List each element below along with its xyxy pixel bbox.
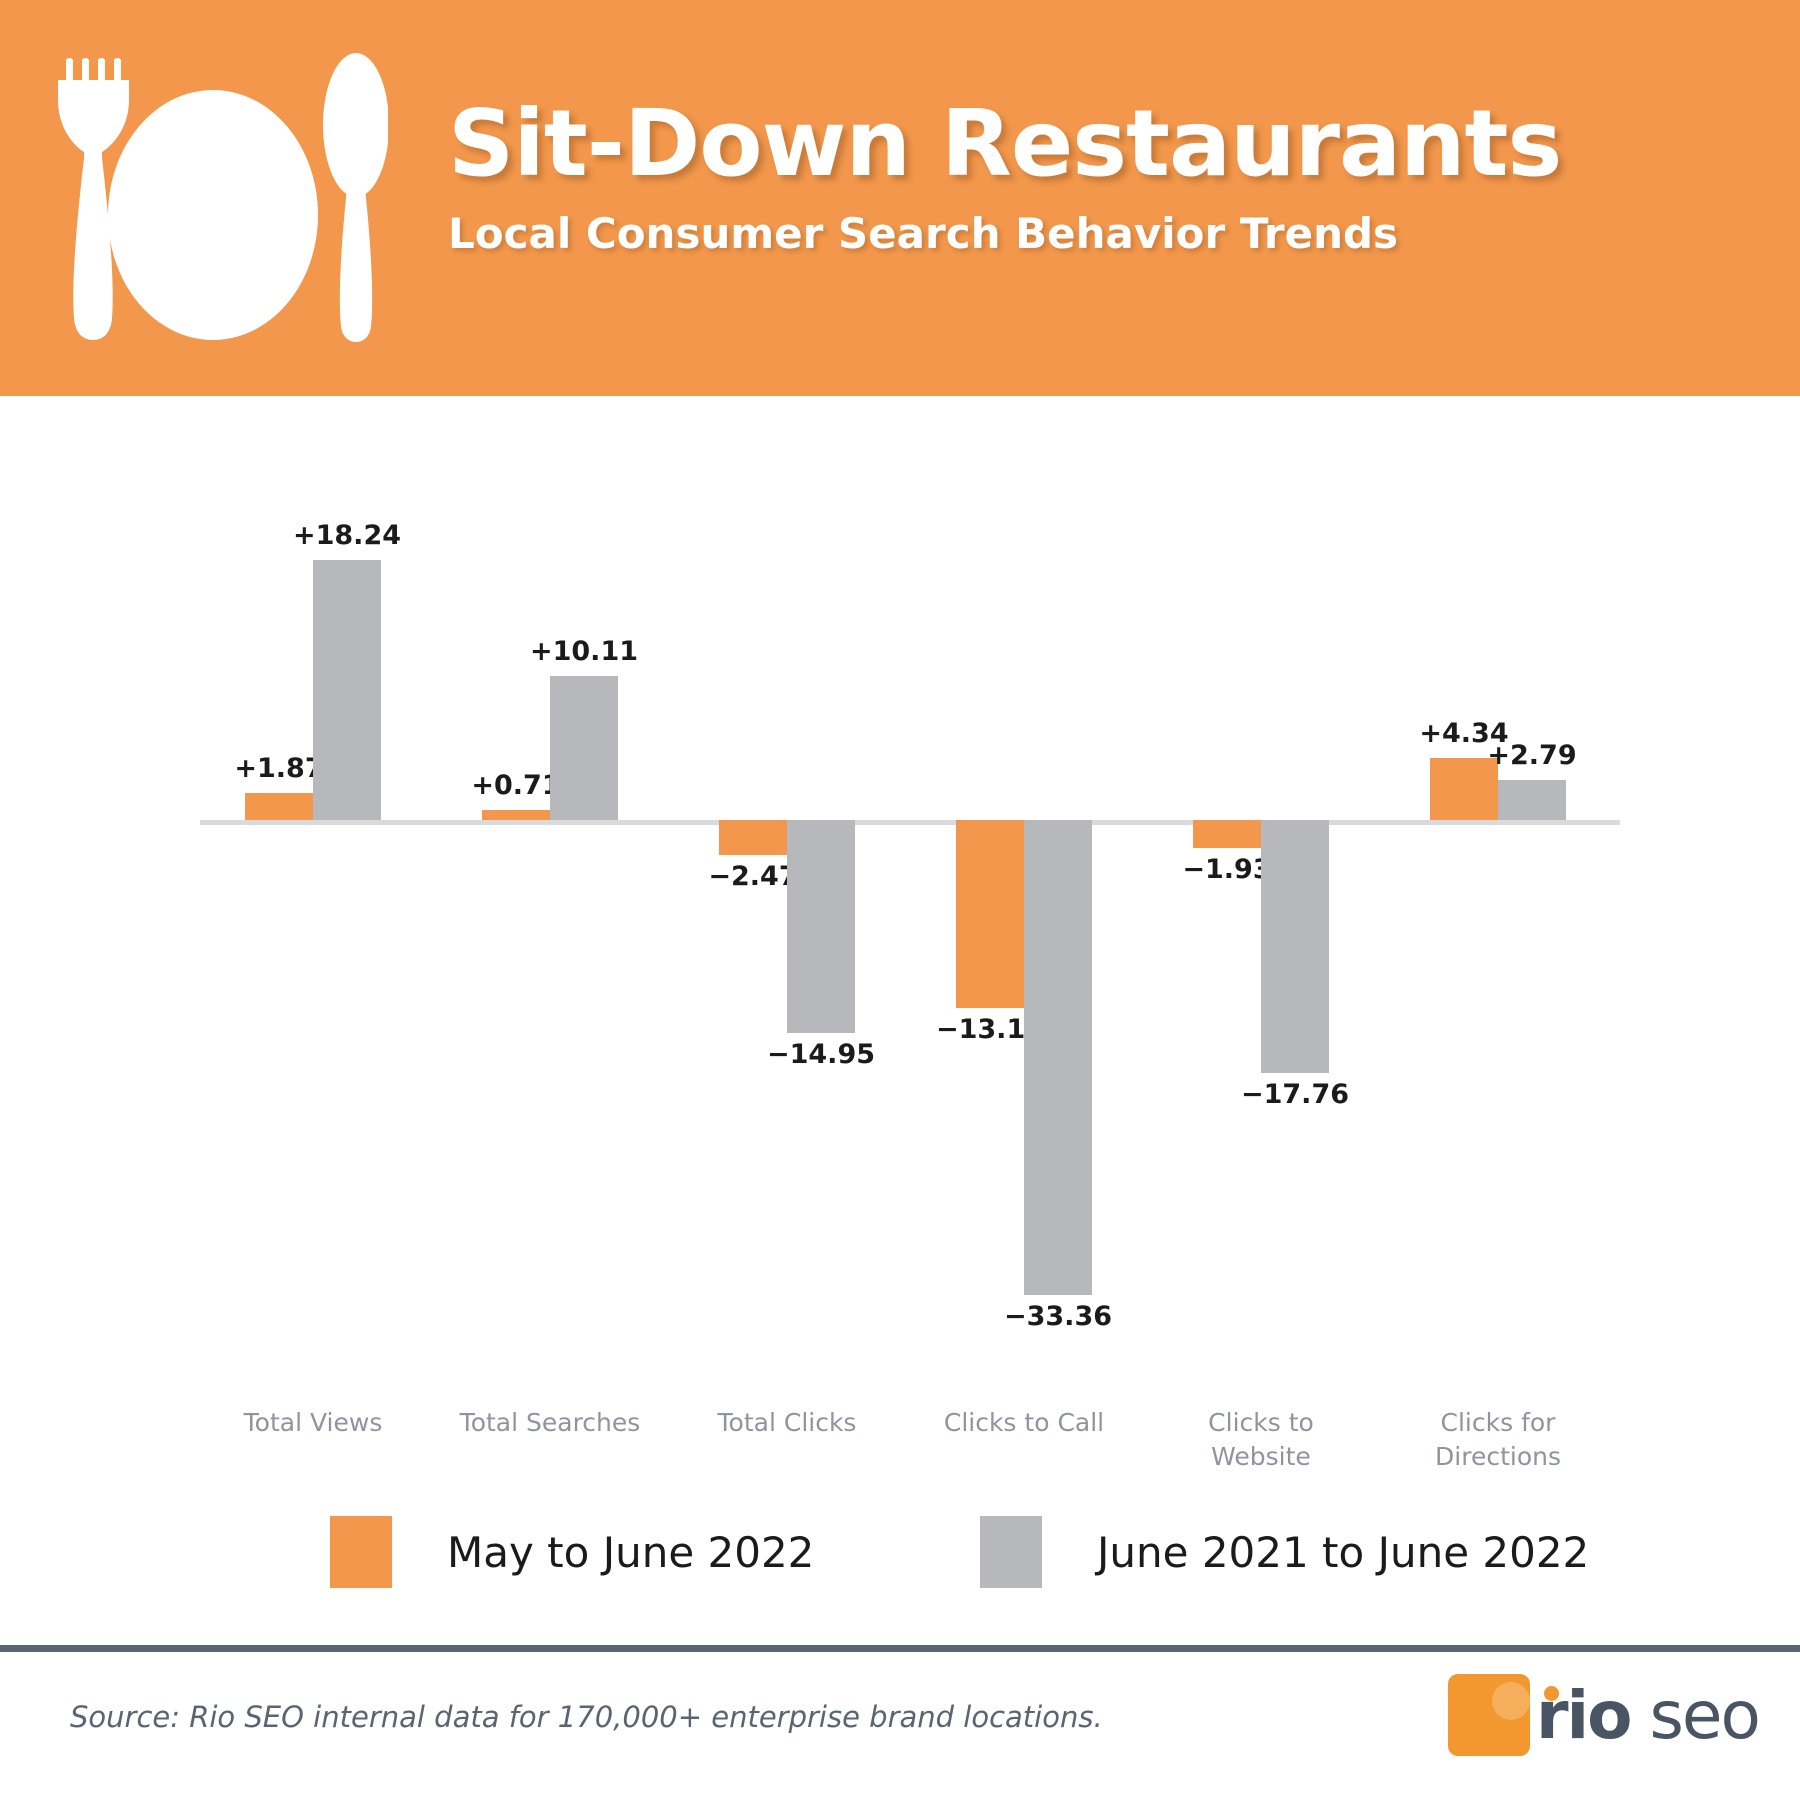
bar <box>956 820 1024 1008</box>
category-label: Clicks to Call <box>924 1406 1124 1440</box>
orange-swatch <box>330 1516 392 1588</box>
legend-item[interactable]: June 2021 to June 2022 <box>980 1516 1589 1588</box>
category-label: Total Clicks <box>687 1406 887 1440</box>
category-label: Clicks to Website <box>1161 1406 1361 1474</box>
rio-seo-logo[interactable]: rio seo <box>1448 1668 1768 1778</box>
bar <box>787 820 855 1033</box>
category-label: Clicks for Directions <box>1398 1406 1598 1474</box>
category-label: Total Views <box>213 1406 413 1440</box>
logo-circle-icon <box>1492 1682 1530 1720</box>
bar <box>1193 820 1261 848</box>
gray-swatch <box>980 1516 1042 1588</box>
bar-value-label: −17.76 <box>1215 1079 1375 1110</box>
fork-plate-spoon-icon <box>38 50 388 350</box>
bar-value-label: +18.24 <box>267 520 427 551</box>
bar-value-label: −33.36 <box>978 1301 1138 1332</box>
logo-seo-text: seo <box>1631 1677 1759 1754</box>
page-subtitle: Local Consumer Search Behavior Trends <box>448 209 1748 259</box>
bar-value-label: +10.11 <box>504 636 664 667</box>
chart-legend: May to June 2022June 2021 to June 2022 <box>0 1516 1800 1626</box>
bar <box>313 560 381 820</box>
bar <box>1498 780 1566 820</box>
source-note: Source: Rio SEO internal data for 170,00… <box>70 1700 1103 1734</box>
bar-value-label: +2.79 <box>1452 740 1612 771</box>
header-banner: Sit-Down Restaurants Local Consumer Sear… <box>0 0 1800 396</box>
bar <box>1024 820 1092 1295</box>
bar <box>719 820 787 855</box>
bar-value-label: −14.95 <box>741 1039 901 1070</box>
category-axis: Total ViewsTotal SearchesTotal ClicksCli… <box>0 1406 1800 1516</box>
bar <box>482 810 550 820</box>
zero-baseline <box>200 820 1620 825</box>
chart-area: +1.87+18.24+0.71+10.11−2.47−14.95−13.19−… <box>0 396 1800 1630</box>
page-title: Sit-Down Restaurants <box>448 96 1748 193</box>
footer-divider <box>0 1645 1800 1652</box>
legend-label: June 2021 to June 2022 <box>1097 1528 1589 1577</box>
legend-label: May to June 2022 <box>447 1528 814 1577</box>
bar <box>245 793 313 820</box>
logo-square-icon <box>1448 1674 1530 1756</box>
logo-wordmark: rio seo <box>1536 1666 1759 1766</box>
bar-plot: +1.87+18.24+0.71+10.11−2.47−14.95−13.19−… <box>0 396 1800 1406</box>
bar <box>1261 820 1329 1073</box>
infographic-page: Sit-Down Restaurants Local Consumer Sear… <box>0 0 1800 1800</box>
legend-item[interactable]: May to June 2022 <box>330 1516 814 1588</box>
logo-i-dot-icon <box>1544 1686 1559 1701</box>
category-label: Total Searches <box>450 1406 650 1440</box>
bar <box>550 676 618 820</box>
header-text-block: Sit-Down Restaurants Local Consumer Sear… <box>448 96 1748 259</box>
